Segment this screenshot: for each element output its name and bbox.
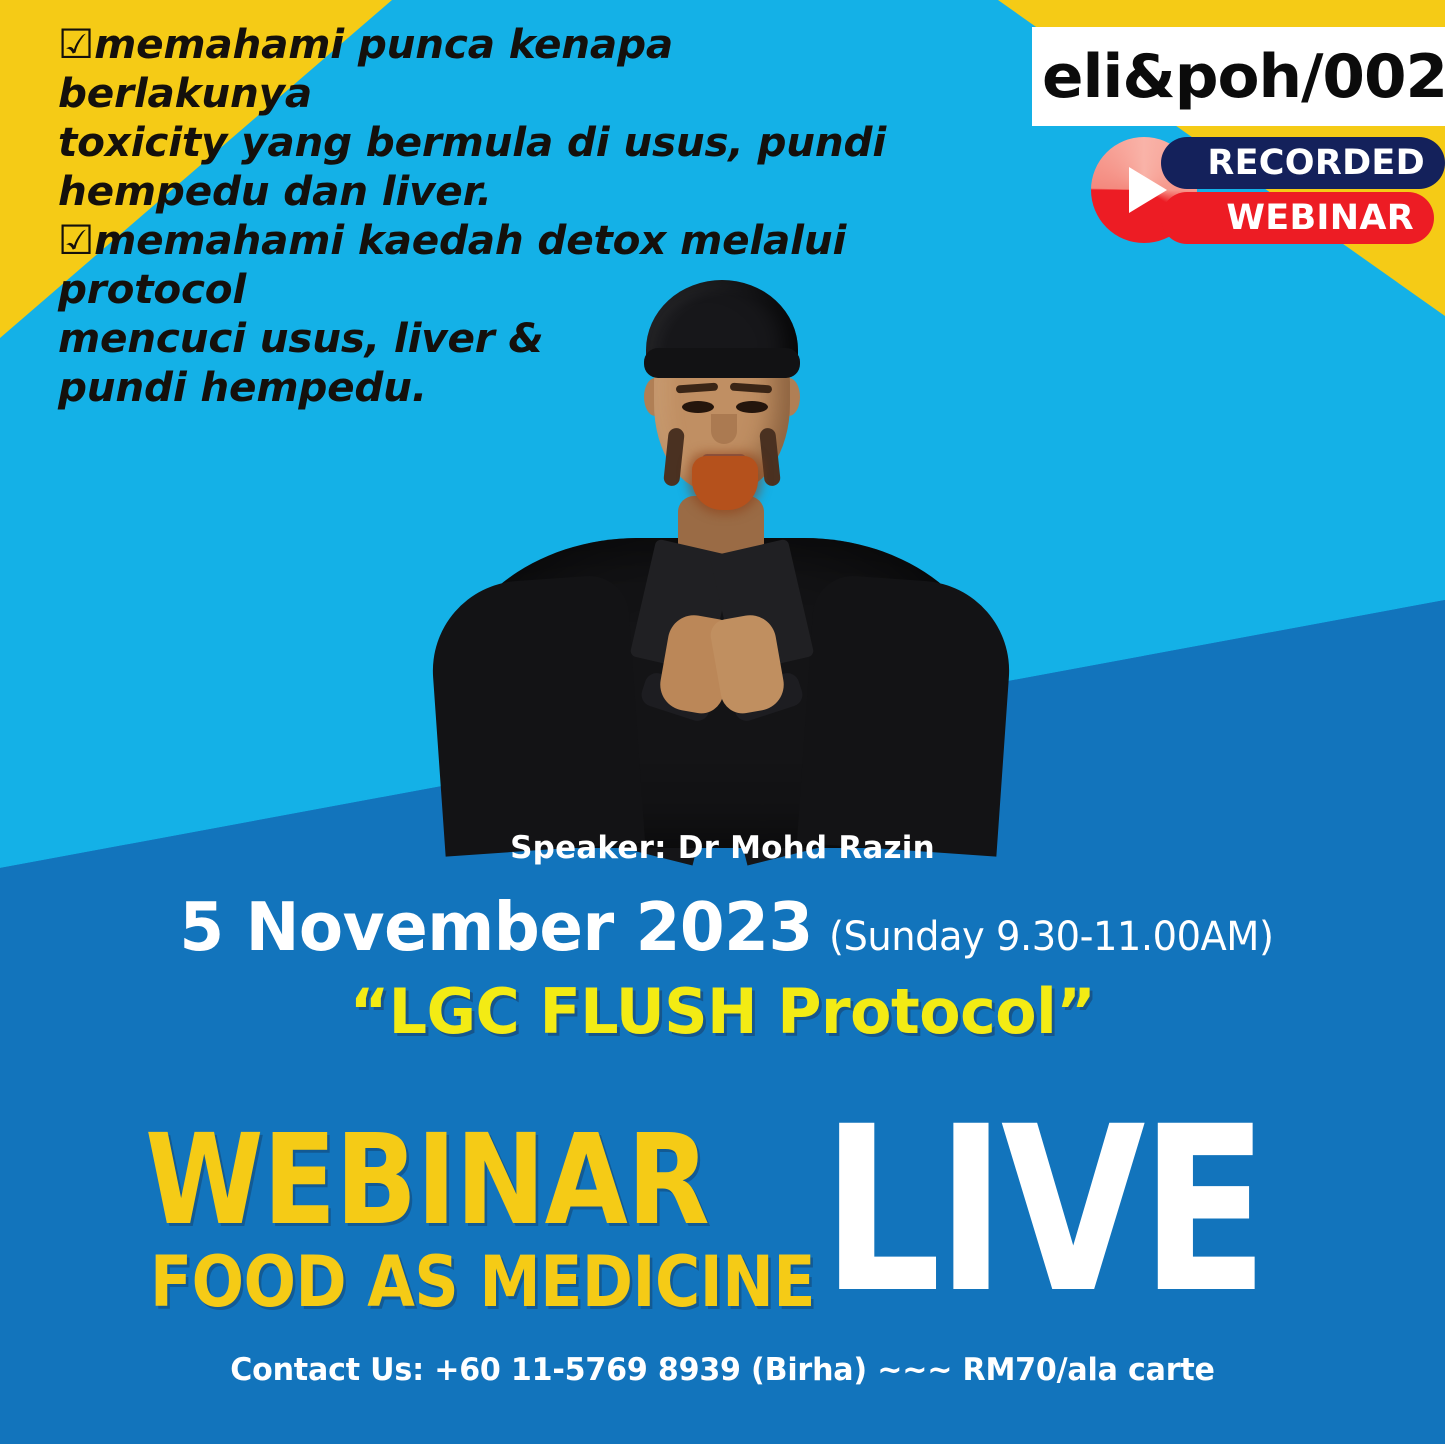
event-date-row: 5 November 2023 (Sunday 9.30-11.00AM) bbox=[0, 888, 1445, 966]
badge-recorded-pill: RECORDED bbox=[1161, 137, 1445, 189]
event-topic-title: “LGC FLUSH Protocol” bbox=[22, 975, 1424, 1048]
speaker-caption: Speaker: Dr Mohd Razin bbox=[0, 830, 1445, 866]
webinar-poster: ☑memahami punca kenapa berlakunya toxici… bbox=[0, 0, 1445, 1444]
lockup-live-word: LIVE bbox=[822, 1110, 1263, 1310]
lockup-webinar-word: WEBINAR bbox=[145, 1118, 709, 1243]
play-triangle-icon bbox=[1129, 167, 1167, 213]
brand-label-text: eli&poh/002 bbox=[1042, 42, 1445, 112]
speaker-beard bbox=[692, 456, 758, 510]
speaker-shoulder-right bbox=[797, 573, 1015, 856]
speaker-shoulder-left bbox=[427, 573, 645, 856]
contact-line: Contact Us: +60 11-5769 8939 (Birha) ~~~… bbox=[22, 1352, 1424, 1388]
speaker-nose bbox=[711, 414, 737, 444]
event-date: 5 November 2023 bbox=[180, 888, 813, 966]
lockup-tagline: FOOD AS MEDICINE bbox=[150, 1247, 815, 1317]
badge-webinar-pill: WEBINAR bbox=[1161, 192, 1434, 244]
webinar-live-lockup: WEBINAR FOOD AS MEDICINE LIVE bbox=[0, 1110, 1445, 1310]
brand-label-box: eli&poh/002 bbox=[1032, 27, 1445, 126]
objectives-text: ☑memahami punca kenapa berlakunya toxici… bbox=[58, 20, 938, 412]
recorded-webinar-badge[interactable]: RECORDED WEBINAR bbox=[1091, 135, 1445, 245]
event-time: (Sunday 9.30-11.00AM) bbox=[829, 914, 1273, 960]
